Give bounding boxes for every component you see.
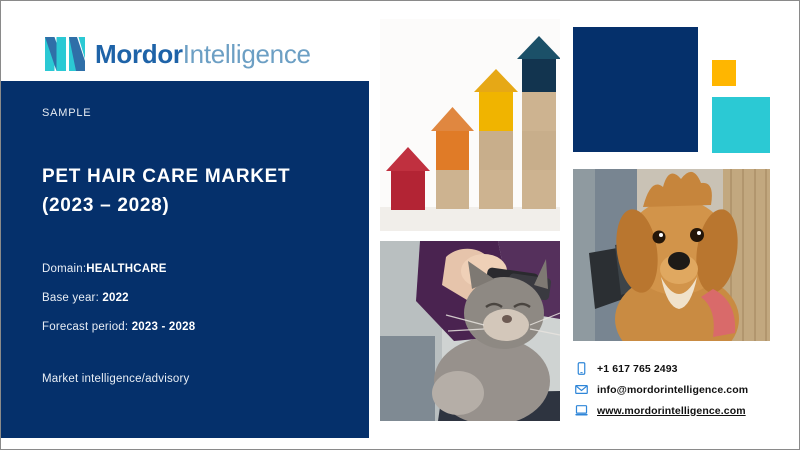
- meta-value-base-year: 2022: [102, 292, 128, 304]
- contact-details: +1 617 765 2493 info@mordorintelligence.…: [575, 362, 748, 417]
- report-period: (2023 – 2028): [42, 191, 369, 220]
- meta-row-domain: Domain:HEALTHCARE: [42, 263, 369, 275]
- report-cover-page: MordorIntelligence SAMPLE PET HAIR CARE …: [0, 0, 800, 450]
- mordor-m-logo-icon: [45, 35, 85, 73]
- contact-phone-text: +1 617 765 2493: [597, 363, 678, 375]
- contact-email-text: info@mordorintelligence.com: [597, 384, 748, 396]
- yellow-square-block: [712, 60, 736, 86]
- meta-row-forecast-period: Forecast period: 2023 - 2028: [42, 321, 369, 333]
- phone-icon: [575, 362, 588, 375]
- contact-row-phone[interactable]: +1 617 765 2493: [575, 362, 748, 375]
- wooden-block-bar-chart-graphic: [380, 19, 560, 231]
- cyan-square-block: [712, 97, 770, 153]
- wooden-block-bar-chart-photo: [380, 19, 560, 231]
- meta-label-forecast-period: Forecast period:: [42, 321, 128, 333]
- brand-name-light: Intelligence: [183, 39, 311, 69]
- sample-badge: SAMPLE: [42, 107, 369, 119]
- cat-grooming-photo: [380, 241, 560, 421]
- brand-name-bold: Mordor: [95, 39, 183, 69]
- brand-wordmark: MordorIntelligence: [95, 41, 311, 67]
- meta-label-domain: Domain:: [42, 263, 86, 275]
- meta-label-base-year: Base year:: [42, 292, 99, 304]
- contact-website-text: www.mordorintelligence.com: [597, 405, 746, 417]
- contact-row-website[interactable]: www.mordorintelligence.com: [575, 404, 748, 417]
- contact-row-email[interactable]: info@mordorintelligence.com: [575, 383, 748, 396]
- meta-value-domain: HEALTHCARE: [86, 263, 166, 275]
- cat-grooming-graphic: [380, 241, 560, 421]
- report-info-panel: SAMPLE PET HAIR CARE MARKET (2023 – 2028…: [1, 81, 369, 438]
- brand-logo[interactable]: MordorIntelligence: [45, 35, 311, 73]
- envelope-icon: [575, 383, 588, 396]
- dog-grooming-graphic: [573, 169, 770, 341]
- meta-row-base-year: Base year: 2022: [42, 292, 369, 304]
- meta-value-forecast-period: 2023 - 2028: [132, 321, 196, 333]
- monitor-icon: [575, 404, 588, 417]
- page-title: PET HAIR CARE MARKET: [42, 162, 369, 191]
- navy-square-block: [573, 27, 698, 152]
- panel-tagline: Market intelligence/advisory: [42, 373, 369, 385]
- dog-grooming-photo: [573, 169, 770, 341]
